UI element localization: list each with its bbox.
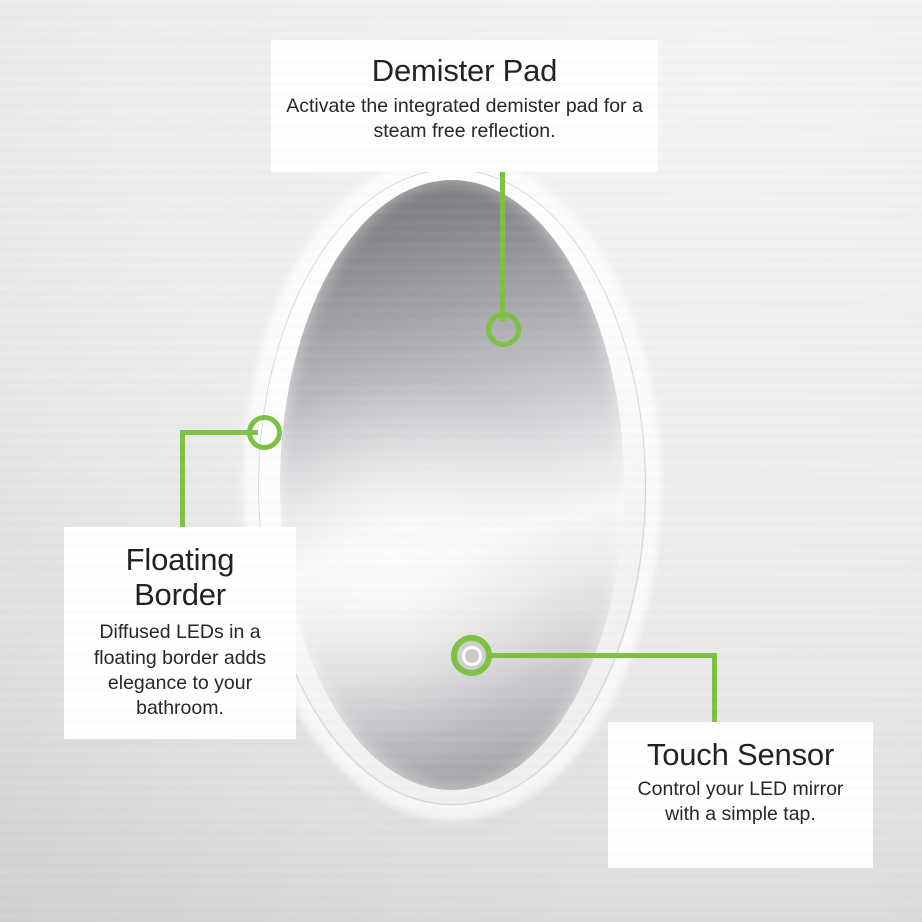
mirror-glass-reflection xyxy=(280,180,624,790)
connector-line-touch-vertical xyxy=(712,653,717,724)
touch-sensor-inner-ring-icon xyxy=(462,646,482,666)
connector-line-touch-horizontal xyxy=(483,653,717,658)
callout-title: Floating Border xyxy=(76,543,284,612)
callout-floating-border: Floating Border Diffused LEDs in a float… xyxy=(64,527,296,739)
product-feature-diagram: Demister Pad Activate the integrated dem… xyxy=(0,0,922,922)
callout-body: Activate the integrated demister pad for… xyxy=(283,94,646,145)
callout-demister-pad: Demister Pad Activate the integrated dem… xyxy=(271,40,658,172)
callout-body: Diffused LEDs in a floating border adds … xyxy=(76,620,284,721)
floating-border-marker-icon[interactable] xyxy=(247,415,282,450)
connector-line-demister xyxy=(500,170,505,322)
callout-body: Control your LED mirror with a simple ta… xyxy=(620,777,861,828)
callout-title: Demister Pad xyxy=(283,54,646,89)
callout-touch-sensor: Touch Sensor Control your LED mirror wit… xyxy=(608,722,873,868)
demister-pad-marker-icon[interactable] xyxy=(486,312,521,347)
oval-led-mirror xyxy=(257,168,647,806)
connector-line-floating-vertical xyxy=(180,430,185,530)
touch-sensor-marker-icon[interactable] xyxy=(451,635,492,676)
callout-title: Touch Sensor xyxy=(620,738,861,773)
